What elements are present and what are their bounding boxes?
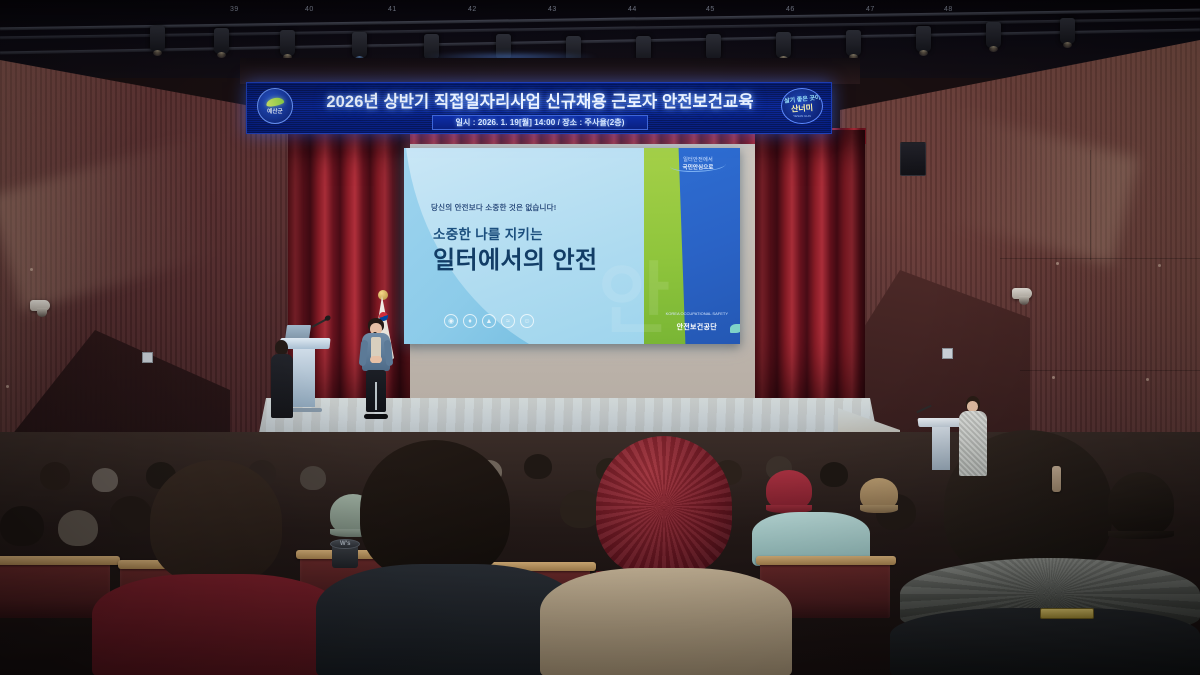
staff-at-side-podium xyxy=(958,396,988,476)
led-banner-subtitle: 일시 : 2026. 1. 19[월] 14:00 / 장소 : 주사율(2층) xyxy=(432,115,648,130)
stage-curtain-right xyxy=(755,130,865,425)
audience-head xyxy=(524,454,552,479)
truss-marker: 40 xyxy=(305,6,314,13)
audience-head xyxy=(110,496,152,534)
truss-marker: 45 xyxy=(706,6,715,13)
slide-top-logo: 일터안전에서 국민안심으로 xyxy=(666,156,730,176)
presenter-shoes xyxy=(364,414,388,419)
led-banner: 예산군 2026년 상반기 직접일자리사업 신규채용 근로자 안전보건교육 살기… xyxy=(246,82,832,134)
truss-marker: 48 xyxy=(944,6,953,13)
truss-marker: 39 xyxy=(230,6,239,13)
audience-head xyxy=(0,506,44,546)
stage-light xyxy=(280,30,295,56)
seat-rail xyxy=(756,556,896,565)
stage-light xyxy=(1060,18,1075,44)
audience-head xyxy=(820,462,848,487)
safety-icon-1: ◉ xyxy=(444,314,458,328)
slide-bottom-logo-sub: KOREA OCCUPATIONAL SAFETY xyxy=(666,311,728,316)
stage-light xyxy=(352,32,367,58)
audience-head xyxy=(1108,472,1174,536)
flag-finial-icon xyxy=(378,290,388,300)
cup-logo: W's xyxy=(340,541,350,547)
auditorium-photo: 39 40 41 42 43 44 45 46 47 48 xyxy=(0,0,1200,675)
projection-slide: 안 일터안전에서 국민안심으로 당신의 안전보다 소중한 것은 없습니다! 소중… xyxy=(404,148,740,344)
audience-head-foreground xyxy=(150,460,282,584)
yesan-gun-emblem-icon: 예산군 xyxy=(257,88,293,124)
stage-light xyxy=(776,32,791,58)
side-podium-column xyxy=(932,427,950,470)
stage-light xyxy=(214,28,229,54)
safety-icon-5: ☺ xyxy=(520,314,534,328)
stage-light xyxy=(150,26,165,52)
safety-icon-3: ▲ xyxy=(482,314,496,328)
stage-light xyxy=(916,26,931,52)
city-slogan-icon: 살기 좋은 곳이 산너미 YESAN GUN xyxy=(781,88,823,124)
slide-tagline: 당신의 안전보다 소중한 것은 없습니다! xyxy=(431,202,556,213)
wall-speaker xyxy=(900,142,926,176)
seat-rail xyxy=(0,556,120,565)
staff-jacket xyxy=(959,411,987,476)
seat-number-plate xyxy=(1040,608,1094,619)
audience-head-foreground xyxy=(360,440,510,580)
wall-switch-plate xyxy=(142,352,153,363)
truss-marker: 43 xyxy=(548,6,557,13)
truss-marker: 42 xyxy=(468,6,477,13)
truss-marker: 44 xyxy=(628,6,637,13)
led-banner-title: 2026년 상반기 직접일자리사업 신규채용 근로자 안전보건교육 xyxy=(305,87,775,113)
audience-beanie xyxy=(766,470,812,510)
proscenium-header xyxy=(240,58,860,84)
audience-head xyxy=(300,466,326,490)
kosha-mark-icon xyxy=(730,324,740,333)
audience-head xyxy=(58,510,98,546)
stage-light xyxy=(986,22,1001,48)
audience-head xyxy=(40,462,70,490)
truss-marker: 41 xyxy=(388,6,397,13)
slogan-line2: 산너미 xyxy=(791,102,814,115)
travel-cup: W's xyxy=(332,544,358,568)
presenter-hands xyxy=(370,356,382,363)
safety-icon-2: ♦ xyxy=(463,314,477,328)
podium-operator xyxy=(270,340,294,418)
security-camera-icon xyxy=(1012,288,1032,299)
slide-icon-row: ◉ ♦ ▲ ≈ ☺ xyxy=(444,314,534,328)
lighting-truss-back xyxy=(0,28,1200,54)
audience-jacket-foreground xyxy=(540,568,792,675)
audience-head xyxy=(92,468,118,492)
slide-bottom-logo: KOREA OCCUPATIONAL SAFETY 안전보건공단 xyxy=(666,311,728,334)
safety-icon-4: ≈ xyxy=(501,314,515,328)
stage-light xyxy=(706,34,721,60)
hair-clip-icon xyxy=(1052,466,1061,492)
wall-switch-plate xyxy=(942,348,953,359)
audience-red-beanie xyxy=(596,436,732,576)
truss-marker: 47 xyxy=(866,6,875,13)
slogan-line3: YESAN GUN xyxy=(793,114,811,118)
presenter xyxy=(360,318,392,416)
stage-light xyxy=(846,30,861,56)
operator-head xyxy=(275,340,288,355)
slide-headline-large: 일터에서의 안전 xyxy=(433,240,597,275)
presenter-arm-right xyxy=(384,340,394,367)
slide-bottom-logo-name: 안전보건공단 xyxy=(677,324,717,331)
audience-area: E-03 E-04 W's xyxy=(0,432,1200,675)
audience-jacket-foreground xyxy=(92,574,344,675)
security-camera-icon xyxy=(30,300,50,311)
podium-column xyxy=(293,349,315,407)
operator-body xyxy=(271,354,293,418)
truss-marker: 46 xyxy=(786,6,795,13)
emblem-label: 예산군 xyxy=(267,107,283,115)
audience-hat xyxy=(860,478,898,510)
slide-watermark: 안 xyxy=(598,260,670,338)
